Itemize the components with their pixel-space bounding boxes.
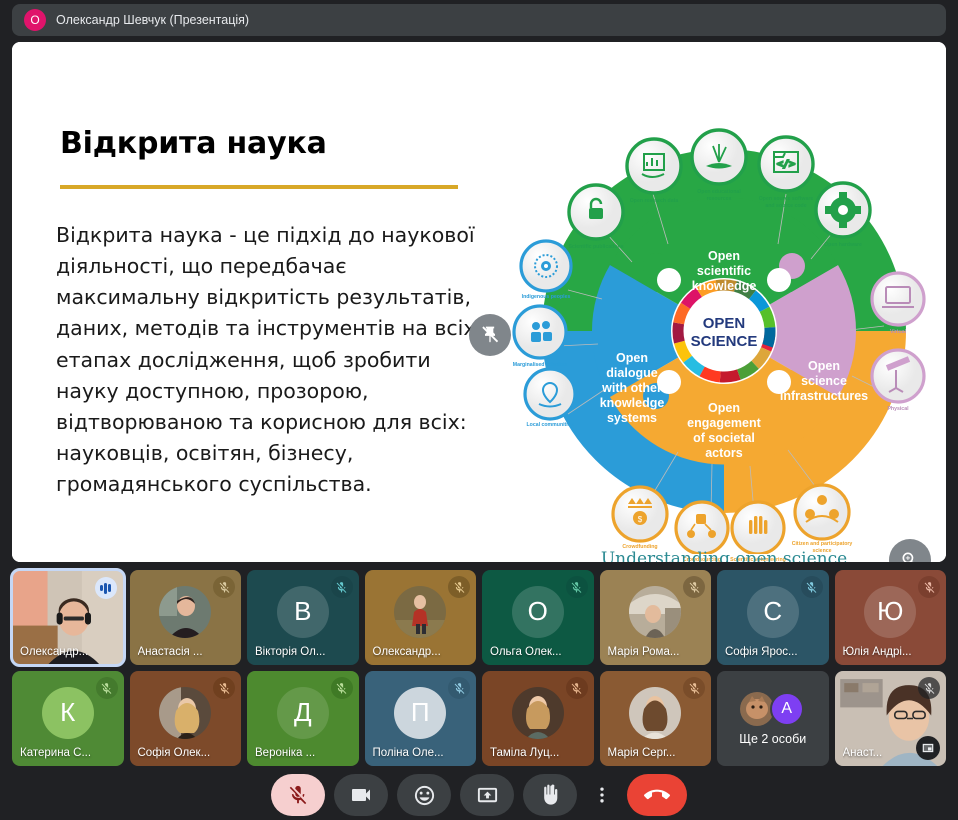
svg-text:OPEN: OPEN [703, 315, 746, 332]
meeting-controls [0, 770, 958, 820]
sat-label-virtual: Virtual [866, 329, 930, 336]
sat-label-open-hardware: Open hardware [811, 242, 875, 249]
participant-name: Анастасія ... [138, 646, 216, 658]
svg-text:with other: with other [601, 381, 662, 395]
sat-label-scientific-publications: Scientific publications [564, 244, 628, 251]
participant-tile[interactable]: Ю Юлія Андрі... [835, 570, 947, 665]
sat-label-open-educational-resources: Open educational resources [687, 189, 751, 202]
presentation-titlebar: О Олександр Шевчук (Презентація) [12, 4, 946, 36]
avatar-initial: К [42, 687, 94, 739]
sat-label-local-communities: Local communities [518, 422, 582, 429]
avatar-initial: С [747, 586, 799, 638]
slide-title: Відкрита наука [60, 126, 327, 161]
sat-label-physical: Physical [866, 406, 930, 413]
slide-body-text: Відкрита наука - це підхід до наукової д… [56, 220, 476, 500]
mic-off-icon [448, 677, 470, 699]
participant-tile[interactable]: П Поліна Оле... [365, 671, 477, 766]
svg-text:Open: Open [808, 359, 840, 373]
avatar-initial: Д [277, 687, 329, 739]
raise-hand-button[interactable] [523, 774, 577, 816]
sat-label-open-research-data: Open research data [622, 198, 686, 205]
participant-name: Юлія Андрі... [843, 646, 921, 658]
presentation-title: Олександр Шевчук (Презентація) [56, 13, 249, 27]
avatar-initial: П [394, 687, 446, 739]
svg-text:science: science [801, 374, 847, 388]
mic-off-icon [801, 576, 823, 598]
more-options-button[interactable] [586, 774, 618, 816]
unpin-icon[interactable] [469, 314, 511, 356]
participant-name: Олександр... [20, 646, 98, 658]
sat-label-open-source-software: Open source software and source code [754, 196, 818, 209]
participant-name: Софія Ярос... [725, 646, 803, 658]
participant-tile[interactable]: Олександр... [365, 570, 477, 665]
sat-label-marginalised-scholars: Marginalised scholars [508, 362, 572, 369]
more-participants-tile[interactable]: А Ще 2 особи [717, 671, 829, 766]
svg-text:knowledge: knowledge [600, 396, 665, 410]
mic-off-icon [331, 677, 353, 699]
participant-name: Олександр... [373, 646, 451, 658]
avatar-initial: В [277, 586, 329, 638]
avatar-initial: А [770, 692, 804, 726]
svg-text:Open: Open [708, 401, 740, 415]
open-science-diagram: </> [506, 94, 942, 562]
participant-name: Ольга Олек... [490, 646, 568, 658]
participant-tile[interactable]: Анастасія ... [130, 570, 242, 665]
camera-button[interactable] [334, 774, 388, 816]
title-underline-rule [60, 185, 458, 189]
overflow-avatars: А [740, 692, 806, 726]
participant-name: Вікторія Ол... [255, 646, 333, 658]
avatar [629, 687, 681, 739]
mic-off-icon [331, 576, 353, 598]
participant-tile[interactable]: Таміла Луц... [482, 671, 594, 766]
participant-tile[interactable]: Софія Олек... [130, 671, 242, 766]
participant-name: Анаст... [843, 747, 921, 759]
mic-off-icon [566, 576, 588, 598]
avatar [629, 586, 681, 638]
presenter-avatar: О [24, 9, 46, 31]
mic-off-icon [918, 677, 940, 699]
svg-text:Open: Open [708, 249, 740, 263]
avatar [394, 586, 446, 638]
participant-tile[interactable]: В Вікторія Ол... [247, 570, 359, 665]
participant-tile[interactable]: Д Вероніка ... [247, 671, 359, 766]
participant-name: Катерина С... [20, 747, 98, 759]
picture-in-picture-icon[interactable] [916, 736, 940, 760]
understanding-open-science-link[interactable]: Understanding open science [506, 549, 942, 562]
participant-name: Вероніка ... [255, 747, 333, 759]
participant-tile[interactable]: С Софія Ярос... [717, 570, 829, 665]
present-screen-button[interactable] [460, 774, 514, 816]
sat-label-indigenous-peoples: Indigenous peoples [514, 294, 578, 301]
participant-name: Марія Рома... [608, 646, 686, 658]
svg-text:systems: systems [607, 411, 657, 425]
avatar [159, 687, 211, 739]
mic-off-icon [683, 576, 705, 598]
participant-tile[interactable]: Анаст... [835, 671, 947, 766]
participant-name: Поліна Оле... [373, 747, 451, 759]
avatar [159, 586, 211, 638]
microphone-off-button[interactable] [271, 774, 325, 816]
open-science-wheel: </> [506, 94, 942, 554]
avatar [512, 687, 564, 739]
reactions-button[interactable] [397, 774, 451, 816]
mic-off-icon [566, 677, 588, 699]
speaking-indicator-icon [95, 577, 117, 599]
avatar-initial: Ю [864, 586, 916, 638]
mic-off-icon [213, 677, 235, 699]
svg-text:Open: Open [616, 351, 648, 365]
svg-text:$: $ [638, 515, 643, 524]
svg-text:SCIENCE: SCIENCE [691, 333, 758, 350]
mic-off-icon [448, 576, 470, 598]
participant-tile[interactable]: К Катерина С... [12, 671, 124, 766]
mic-off-icon [683, 677, 705, 699]
participant-tile[interactable]: Марія Серг... [600, 671, 712, 766]
participant-name: Софія Олек... [138, 747, 216, 759]
meeting-window: О Олександр Шевчук (Презентація) Відкрит… [0, 0, 958, 820]
mic-off-icon [96, 677, 118, 699]
svg-text:actors: actors [705, 446, 743, 460]
svg-text:dialogue: dialogue [606, 366, 657, 380]
slide-canvas: Відкрита наука Відкрита наука - це підхі… [12, 42, 946, 562]
svg-text:of societal: of societal [693, 431, 755, 445]
participant-tile[interactable]: Олександр... [12, 570, 124, 665]
presentation-stage[interactable]: Відкрита наука Відкрита наука - це підхі… [12, 42, 946, 562]
participant-name: Таміла Луц... [490, 747, 568, 759]
participant-strip: Олександр... Анастасія ... В Вікторія Ол… [12, 570, 946, 766]
participant-tile[interactable]: Марія Рома... [600, 570, 712, 665]
avatar [740, 692, 774, 726]
mic-off-icon [213, 576, 235, 598]
end-call-button[interactable] [627, 774, 687, 816]
participant-tile[interactable]: О Ольга Олек... [482, 570, 594, 665]
svg-text:infrastructures: infrastructures [780, 389, 868, 403]
avatar-initial: О [512, 586, 564, 638]
svg-text:</>: </> [777, 159, 795, 170]
svg-text:engagement: engagement [687, 416, 761, 430]
more-participants-label: Ще 2 особи [739, 732, 806, 746]
svg-text:knowledge: knowledge [692, 279, 757, 293]
mic-off-icon [918, 576, 940, 598]
participant-name: Марія Серг... [608, 747, 686, 759]
svg-text:scientific: scientific [697, 264, 751, 278]
